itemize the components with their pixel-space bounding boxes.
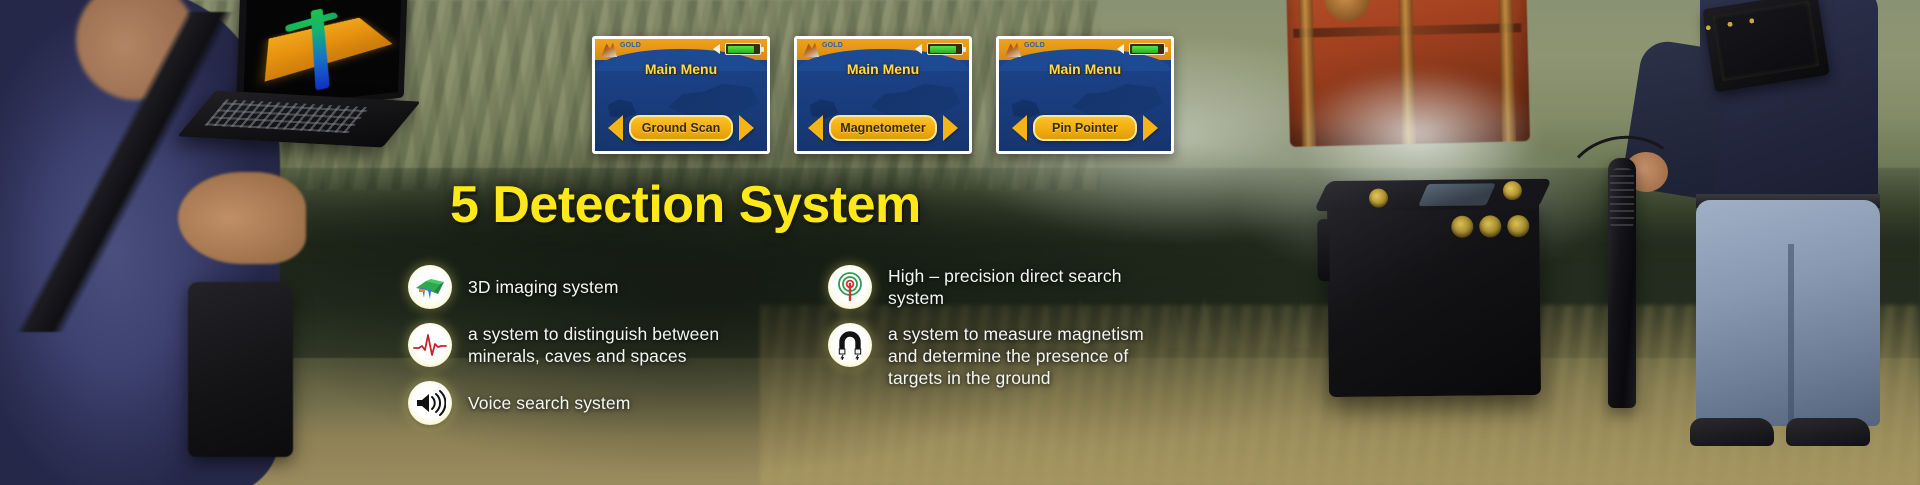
- chest-band: [1298, 0, 1316, 147]
- feature-item: a system to measure magnetism and determ…: [828, 323, 1168, 389]
- treasure-chest: [1286, 0, 1530, 147]
- battery-icon: [725, 43, 761, 55]
- chest-band: [1498, 0, 1516, 142]
- detector-port: [1479, 215, 1501, 237]
- arrow-left-icon[interactable]: [808, 115, 823, 141]
- detector-knob: [1503, 181, 1522, 200]
- feature-label: Voice search system: [468, 381, 630, 414]
- detector-display: [1418, 183, 1496, 206]
- menu-title: Main Menu: [999, 61, 1171, 77]
- equipment-bag: [188, 282, 293, 457]
- arrow-left-icon[interactable]: [608, 115, 623, 141]
- right-person-shoe: [1786, 418, 1870, 446]
- right-person-shoe: [1690, 418, 1774, 446]
- mode-selector-row: Magnetometer: [797, 115, 969, 141]
- detector-handle: [1317, 219, 1330, 281]
- arrow-right-icon[interactable]: [739, 115, 754, 141]
- device-menu-panels: GOLDMain MenuGround ScanGOLDMain MenuMag…: [592, 36, 1174, 154]
- search-probe: [1608, 158, 1636, 408]
- device-menu-panel: GOLDMain MenuMagnetometer: [794, 36, 972, 154]
- detector-port: [1507, 215, 1529, 237]
- battery-level-fill: [930, 46, 956, 53]
- page-title: 5 Detection System: [450, 175, 921, 235]
- brand-label: GOLD: [822, 42, 843, 49]
- device-menu-panel: GOLDMain MenuPin Pointer: [996, 36, 1174, 154]
- left-person-arm: [178, 172, 306, 264]
- battery-icon: [927, 43, 963, 55]
- feature-list-left: 3D imaging systema system to distinguish…: [408, 265, 738, 439]
- mode-button[interactable]: Magnetometer: [829, 115, 936, 141]
- magnet-icon: [828, 323, 872, 367]
- battery-icon: [1129, 43, 1165, 55]
- feature-item: Voice search system: [408, 381, 738, 425]
- detector-case: [1327, 195, 1541, 397]
- feature-label: High – precision direct search system: [888, 265, 1168, 309]
- person-right: [1680, 0, 1920, 485]
- speaker-sound-icon: [408, 381, 452, 425]
- feature-label: a system to measure magnetism and determ…: [888, 323, 1168, 389]
- detector-port: [1451, 216, 1473, 238]
- panel-artwork: [865, 81, 961, 117]
- promo-banner: GOLDMain MenuGround ScanGOLDMain MenuMag…: [0, 0, 1920, 485]
- detector-knob: [1369, 188, 1388, 207]
- laptop-base: [177, 90, 420, 147]
- battery-level-fill: [728, 46, 754, 53]
- signal-target-icon: [828, 265, 872, 309]
- mode-selector-row: Pin Pointer: [999, 115, 1171, 141]
- feature-label: 3D imaging system: [468, 265, 619, 298]
- feature-list-right: High – precision direct search systema s…: [828, 265, 1168, 403]
- speaker-icon: [1117, 44, 1124, 54]
- brand-label: GOLD: [620, 42, 641, 49]
- mode-selector-row: Ground Scan: [595, 115, 767, 141]
- menu-title: Main Menu: [797, 61, 969, 77]
- laptop-screen: [243, 0, 402, 108]
- laptop-keyboard: [205, 99, 370, 133]
- speaker-icon: [713, 44, 720, 54]
- feature-item: 3D imaging system: [408, 265, 738, 309]
- device-menu-panel: GOLDMain MenuGround Scan: [592, 36, 770, 154]
- speaker-icon: [915, 44, 922, 54]
- feature-item: High – precision direct search system: [828, 265, 1168, 309]
- mode-button[interactable]: Pin Pointer: [1033, 115, 1137, 141]
- battery-level-fill: [1132, 46, 1158, 53]
- menu-title: Main Menu: [595, 61, 767, 77]
- chest-lock-ornament: [1324, 0, 1371, 22]
- arrow-right-icon[interactable]: [943, 115, 958, 141]
- brand-label: GOLD: [1024, 42, 1045, 49]
- laptop: [146, 0, 396, 152]
- arrow-right-icon[interactable]: [1143, 115, 1158, 141]
- pulse-waveform-icon: [408, 323, 452, 367]
- panel-artwork: [663, 81, 759, 117]
- right-person-jeans: [1696, 200, 1880, 426]
- feature-label: a system to distinguish between minerals…: [468, 323, 738, 367]
- arrow-left-icon[interactable]: [1012, 115, 1027, 141]
- chest-band: [1398, 0, 1416, 144]
- terrain-3d-icon: [408, 265, 452, 309]
- mode-button[interactable]: Ground Scan: [629, 115, 733, 141]
- feature-item: a system to distinguish between minerals…: [408, 323, 738, 367]
- panel-artwork: [1067, 81, 1163, 117]
